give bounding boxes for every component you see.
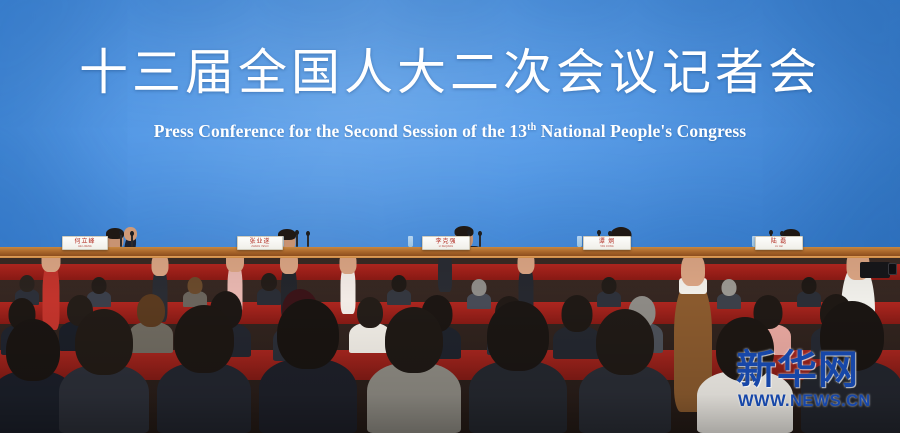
audience-head: [174, 305, 234, 373]
audience-head: [487, 301, 549, 371]
microphone: [307, 234, 309, 247]
xinhua-watermark: 新华网 WWW.NEWS.CN: [736, 348, 894, 410]
audience-body: [157, 363, 251, 433]
title-en-post: National People's Congress: [536, 121, 746, 141]
raised-palm: [42, 258, 61, 272]
nameplate-seat-3: 李克强 LI KEQIANG: [422, 236, 470, 250]
microphone: [296, 233, 298, 247]
nameplate-seat-2: 张业遂 ZHANG YESUI: [237, 236, 283, 250]
audience-head: [802, 277, 817, 294]
press-conference-screenshot: 十三届全国人大二次会议记者会 Press Conference for the …: [0, 0, 900, 433]
nameplate-name-en: LU LEI: [758, 245, 800, 248]
page-title-english: Press Conference for the Second Session …: [0, 117, 900, 142]
audience-head: [75, 309, 133, 375]
audience-body: [367, 363, 461, 433]
audience-member: [366, 311, 462, 433]
audience-body: [469, 361, 567, 433]
audience-member: [578, 315, 672, 433]
nameplate-name-en: TAN JIONG: [586, 245, 628, 248]
audience-head: [92, 277, 107, 294]
raised-palm: [280, 258, 298, 274]
watermark-brand-url: WWW.NEWS.CN: [738, 392, 896, 410]
audience-head: [20, 275, 35, 292]
nameplate-name-en: LI KEQIANG: [425, 245, 467, 248]
audience-head: [188, 277, 203, 294]
audience-head: [602, 277, 617, 294]
raised-palm: [152, 258, 169, 276]
microphone: [479, 234, 481, 247]
nameplate-name-en: ZHANG YESUI: [240, 245, 280, 248]
audience-head: [6, 319, 60, 381]
audience-head: [392, 275, 407, 292]
raised-forearm: [438, 258, 452, 292]
nameplate-seat-4: 谭 炯 TAN JIONG: [583, 236, 631, 250]
watermark-brand-cn: 新华网: [736, 348, 894, 392]
raised-palm: [518, 258, 535, 274]
water-glass: [408, 236, 413, 247]
raised-palm: [340, 258, 357, 274]
audience-head: [277, 299, 339, 369]
video-camera: [860, 262, 890, 278]
raised-hand: [434, 258, 456, 292]
audience-head: [261, 273, 277, 291]
nameplate-seat-1: 何立峰 HE LIFENG: [62, 236, 108, 250]
title-en-pre: Press Conference for the Second Session …: [154, 121, 527, 141]
nameplate-seat-5: 陆 磊 LU LEI: [755, 236, 803, 250]
audience-member: [156, 309, 252, 433]
water-glass: [577, 236, 582, 247]
audience-member: [58, 313, 150, 433]
audience-head: [385, 307, 443, 373]
microphone: [131, 234, 133, 247]
audience-head: [472, 279, 487, 296]
raised-palm: [226, 258, 244, 272]
audience-member: [716, 279, 742, 309]
audience-member: [258, 303, 358, 433]
audience-body: [59, 365, 149, 433]
microphone: [120, 233, 122, 247]
audience-head: [596, 309, 654, 375]
audience-body: [259, 359, 357, 433]
audience-member: [468, 305, 568, 433]
title-en-ordinal: th: [527, 122, 536, 133]
page-title-chinese: 十三届全国人大二次会议记者会: [0, 44, 900, 102]
raised-palm: [681, 258, 705, 286]
audience-head: [722, 279, 737, 296]
audience-body: [579, 365, 671, 433]
nameplate-name-en: HE LIFENG: [65, 245, 105, 248]
